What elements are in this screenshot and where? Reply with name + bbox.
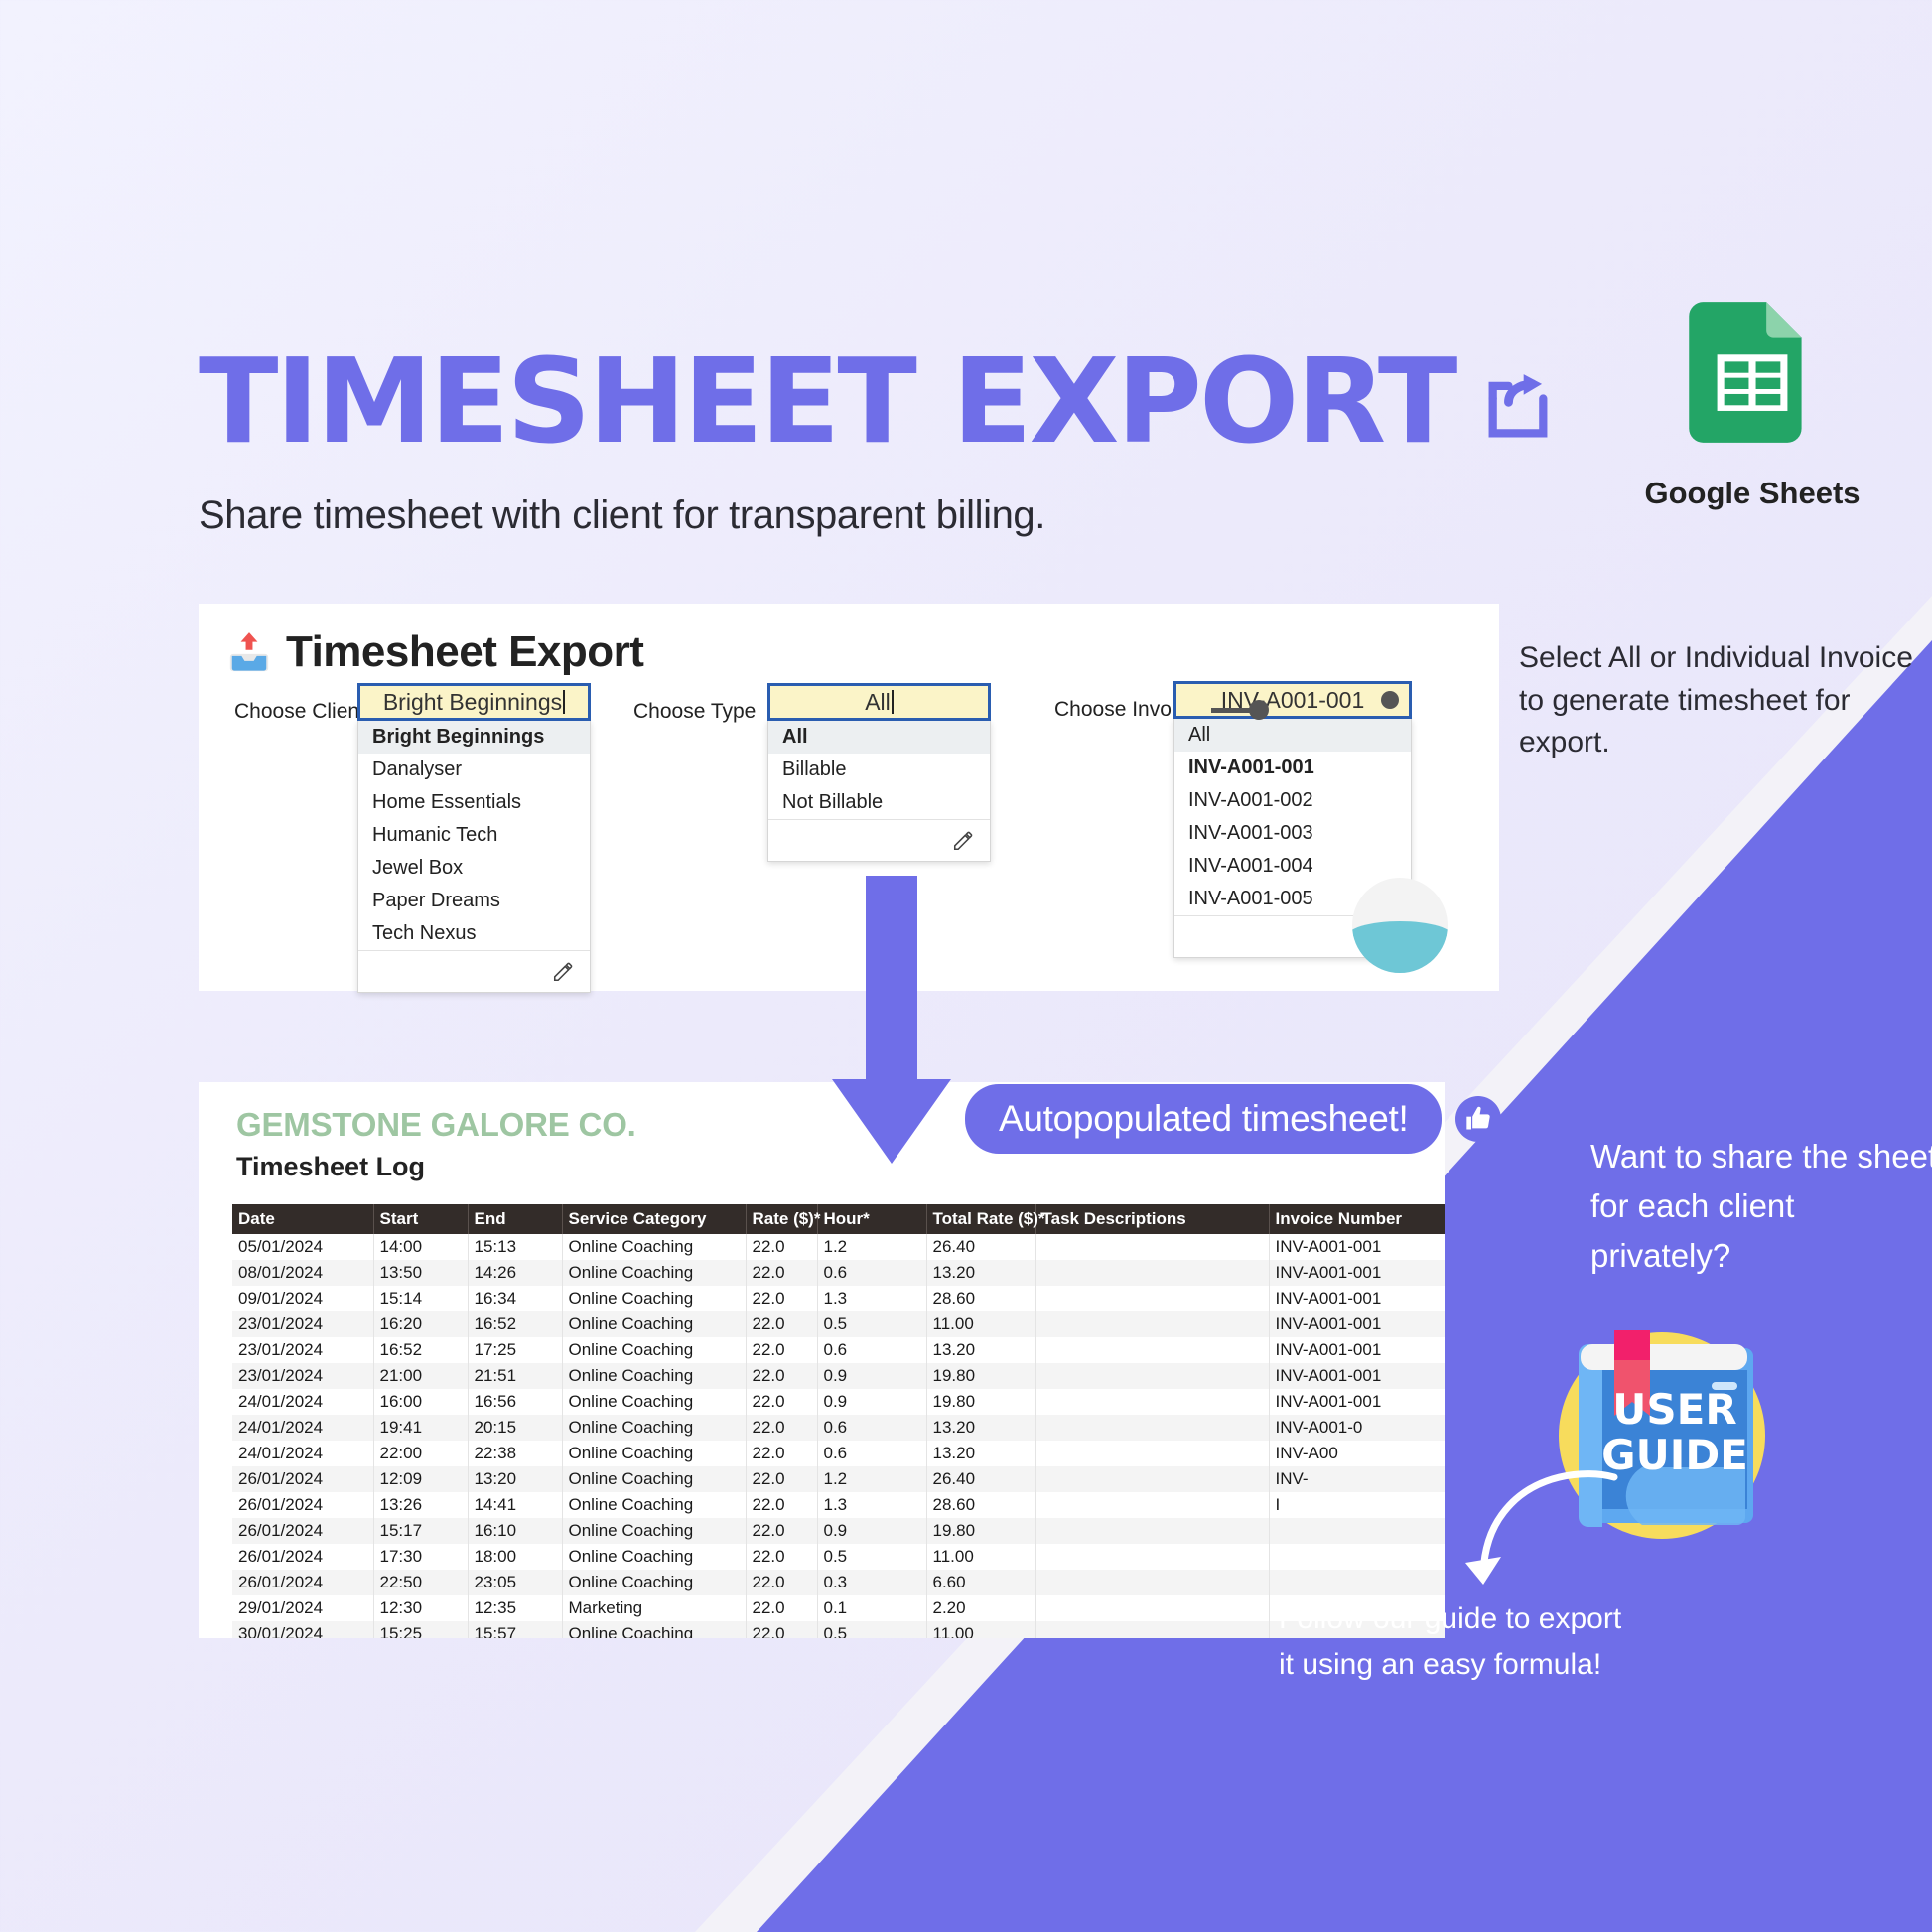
- table-cell: 22.0: [746, 1466, 817, 1492]
- table-cell: 19.80: [926, 1518, 1035, 1544]
- anchor-dot: [1381, 691, 1399, 709]
- timesheet-table: DateStartEndService CategoryRate ($)*Hou…: [232, 1204, 1445, 1638]
- table-cell: [1035, 1389, 1269, 1415]
- table-column-header: Start: [373, 1204, 468, 1234]
- table-cell: 19.80: [926, 1389, 1035, 1415]
- table-cell: 0.9: [817, 1363, 926, 1389]
- dropdown-option[interactable]: All: [768, 721, 990, 754]
- table-cell: 26/01/2024: [232, 1492, 373, 1518]
- choose-client-dropdown[interactable]: Bright Beginnings Bright Beginnings Dana…: [357, 683, 591, 993]
- dropdown-option[interactable]: Paper Dreams: [358, 885, 590, 917]
- table-cell: 21:51: [468, 1363, 562, 1389]
- table-cell: 23:05: [468, 1570, 562, 1595]
- share-privately-question: Want to share the sheet for each client …: [1590, 1132, 1932, 1281]
- table-cell: 22.0: [746, 1311, 817, 1337]
- table-cell: 26/01/2024: [232, 1570, 373, 1595]
- table-cell: 13:20: [468, 1466, 562, 1492]
- dropdown-option[interactable]: All: [1174, 719, 1411, 752]
- choose-type-option-list[interactable]: All Billable Not Billable: [767, 721, 991, 862]
- table-cell: 22.0: [746, 1492, 817, 1518]
- table-cell: [1035, 1415, 1269, 1441]
- table-cell: 0.6: [817, 1337, 926, 1363]
- table-row: 23/01/202416:5217:25Online Coaching22.00…: [232, 1337, 1445, 1363]
- table-cell: INV-A001-001: [1269, 1311, 1445, 1337]
- table-cell: 0.9: [817, 1518, 926, 1544]
- table-cell: 22:38: [468, 1441, 562, 1466]
- dropdown-option[interactable]: INV-A001-004: [1174, 850, 1411, 883]
- table-row: 08/01/202413:5014:26Online Coaching22.00…: [232, 1260, 1445, 1286]
- choose-type-input[interactable]: All: [767, 683, 991, 721]
- callout-select-invoice: Select All or Individual Invoice to gene…: [1519, 637, 1916, 764]
- table-cell: 26/01/2024: [232, 1544, 373, 1570]
- dropdown-option[interactable]: Tech Nexus: [358, 917, 590, 950]
- google-sheets-icon: [1668, 288, 1837, 457]
- table-cell: 13.20: [926, 1260, 1035, 1286]
- table-column-header: Invoice Number: [1269, 1204, 1445, 1234]
- dropdown-option[interactable]: Home Essentials: [358, 786, 590, 819]
- table-column-header: Date: [232, 1204, 373, 1234]
- table-row: 26/01/202412:0913:20Online Coaching22.01…: [232, 1466, 1445, 1492]
- pencil-icon[interactable]: [952, 830, 974, 852]
- table-cell: 26.40: [926, 1234, 1035, 1260]
- table-cell: Online Coaching: [562, 1260, 746, 1286]
- table-cell: 22.0: [746, 1621, 817, 1638]
- down-arrow-icon: [832, 876, 951, 1164]
- table-header-row: DateStartEndService CategoryRate ($)*Hou…: [232, 1204, 1445, 1234]
- text-caret: [892, 690, 894, 714]
- table-cell: 13.20: [926, 1441, 1035, 1466]
- table-cell: [1035, 1234, 1269, 1260]
- autopopulated-label: Autopopulated timesheet!: [965, 1084, 1442, 1154]
- table-cell: 0.6: [817, 1415, 926, 1441]
- outbox-tray-emoji: [226, 629, 272, 675]
- table-cell: 22.0: [746, 1441, 817, 1466]
- table-cell: 19:41: [373, 1415, 468, 1441]
- table-cell: 22.0: [746, 1363, 817, 1389]
- table-cell: INV-A001-001: [1269, 1286, 1445, 1311]
- table-row: 24/01/202422:0022:38Online Coaching22.00…: [232, 1441, 1445, 1466]
- table-cell: 0.9: [817, 1389, 926, 1415]
- table-cell: [1035, 1260, 1269, 1286]
- table-cell: 08/01/2024: [232, 1260, 373, 1286]
- table-cell: 16:52: [468, 1311, 562, 1337]
- table-cell: [1035, 1466, 1269, 1492]
- table-cell: 11.00: [926, 1621, 1035, 1638]
- timesheet-log-panel: GEMSTONE GALORE CO. Timesheet Log DateSt…: [199, 1082, 1445, 1638]
- table-cell: 15:14: [373, 1286, 468, 1311]
- table-cell: 29/01/2024: [232, 1595, 373, 1621]
- table-cell: 14:26: [468, 1260, 562, 1286]
- table-cell: 0.6: [817, 1441, 926, 1466]
- choose-client-value: Bright Beginnings: [383, 689, 562, 716]
- table-cell: INV-A00: [1269, 1441, 1445, 1466]
- table-row: 09/01/202415:1416:34Online Coaching22.01…: [232, 1286, 1445, 1311]
- table-cell: 13:50: [373, 1260, 468, 1286]
- autopopulated-badge: Autopopulated timesheet!: [965, 1084, 1501, 1154]
- dropdown-option[interactable]: Billable: [768, 754, 990, 786]
- table-row: 24/01/202416:0016:56Online Coaching22.00…: [232, 1389, 1445, 1415]
- table-cell: 24/01/2024: [232, 1389, 373, 1415]
- table-cell: 2.20: [926, 1595, 1035, 1621]
- table-cell: [1035, 1492, 1269, 1518]
- table-cell: Online Coaching: [562, 1337, 746, 1363]
- table-cell: 16:00: [373, 1389, 468, 1415]
- table-cell: [1035, 1286, 1269, 1311]
- table-column-header: End: [468, 1204, 562, 1234]
- dropdown-option[interactable]: Jewel Box: [358, 852, 590, 885]
- table-cell: [1269, 1518, 1445, 1544]
- table-cell: 22.0: [746, 1260, 817, 1286]
- table-cell: 16:52: [373, 1337, 468, 1363]
- dropdown-option[interactable]: Bright Beginnings: [358, 721, 590, 754]
- table-row: 05/01/202414:0015:13Online Coaching22.01…: [232, 1234, 1445, 1260]
- google-sheets-badge: Google Sheets: [1643, 288, 1862, 511]
- table-cell: Online Coaching: [562, 1570, 746, 1595]
- text-caret: [563, 690, 565, 714]
- table-cell: INV-A001-0: [1269, 1415, 1445, 1441]
- table-cell: 26/01/2024: [232, 1518, 373, 1544]
- table-cell: 26/01/2024: [232, 1466, 373, 1492]
- table-cell: Marketing: [562, 1595, 746, 1621]
- table-cell: 12:09: [373, 1466, 468, 1492]
- choose-client-input[interactable]: Bright Beginnings: [357, 683, 591, 721]
- table-cell: [1035, 1363, 1269, 1389]
- table-row: 24/01/202419:4120:15Online Coaching22.00…: [232, 1415, 1445, 1441]
- table-cell: 22:50: [373, 1570, 468, 1595]
- table-cell: [1035, 1595, 1269, 1621]
- table-cell: 26.40: [926, 1466, 1035, 1492]
- table-cell: 0.5: [817, 1621, 926, 1638]
- table-cell: 09/01/2024: [232, 1286, 373, 1311]
- table-cell: 17:25: [468, 1337, 562, 1363]
- choose-client-label: Choose Client: [234, 700, 365, 724]
- table-cell: 13:26: [373, 1492, 468, 1518]
- table-row: 26/01/202415:1716:10Online Coaching22.00…: [232, 1518, 1445, 1544]
- table-cell: [1035, 1544, 1269, 1570]
- share-export-icon: [1480, 370, 1556, 446]
- table-cell: 23/01/2024: [232, 1337, 373, 1363]
- table-cell: 11.00: [926, 1311, 1035, 1337]
- table-cell: 13.20: [926, 1337, 1035, 1363]
- table-cell: 16:56: [468, 1389, 562, 1415]
- dropdown-footer: [358, 950, 590, 992]
- table-cell: 23/01/2024: [232, 1363, 373, 1389]
- water-fill: [1352, 935, 1448, 973]
- table-cell: Online Coaching: [562, 1466, 746, 1492]
- table-cell: [1035, 1311, 1269, 1337]
- table-cell: 21:00: [373, 1363, 468, 1389]
- page-title: TIMESHEET EXPORT: [199, 343, 1454, 460]
- table-cell: 28.60: [926, 1286, 1035, 1311]
- dropdown-option[interactable]: Not Billable: [768, 786, 990, 819]
- header: TIMESHEET EXPORT Share timesheet with cl…: [199, 343, 1556, 538]
- table-column-header: Service Category: [562, 1204, 746, 1234]
- table-column-header: Rate ($)*: [746, 1204, 817, 1234]
- table-cell: [1035, 1621, 1269, 1638]
- table-cell: 0.5: [817, 1311, 926, 1337]
- table-cell: 22.0: [746, 1415, 817, 1441]
- table-cell: INV-A001-001: [1269, 1234, 1445, 1260]
- table-cell: 0.3: [817, 1570, 926, 1595]
- table-cell: 18:00: [468, 1544, 562, 1570]
- table-cell: 12:30: [373, 1595, 468, 1621]
- table-row: 30/01/202415:2515:57Online Coaching22.00…: [232, 1621, 1445, 1638]
- table-cell: 0.1: [817, 1595, 926, 1621]
- table-column-header: Task Descriptions: [1035, 1204, 1269, 1234]
- water-progress-circle: [1352, 878, 1448, 973]
- table-cell: 24/01/2024: [232, 1441, 373, 1466]
- table-cell: 0.5: [817, 1544, 926, 1570]
- google-sheets-label: Google Sheets: [1643, 476, 1862, 511]
- table-cell: 6.60: [926, 1570, 1035, 1595]
- table-cell: 23/01/2024: [232, 1311, 373, 1337]
- table-cell: 17:30: [373, 1544, 468, 1570]
- table-cell: 22:00: [373, 1441, 468, 1466]
- choose-type-dropdown[interactable]: All All Billable Not Billable: [767, 683, 991, 862]
- table-cell: 1.2: [817, 1234, 926, 1260]
- table-body: 05/01/202414:0015:13Online Coaching22.01…: [232, 1234, 1445, 1638]
- callout-connector-dot: [1249, 700, 1269, 720]
- table-cell: 15:17: [373, 1518, 468, 1544]
- table-cell: 1.3: [817, 1492, 926, 1518]
- table-cell: 16:20: [373, 1311, 468, 1337]
- table-cell: 22.0: [746, 1570, 817, 1595]
- table-row: 26/01/202417:3018:00Online Coaching22.00…: [232, 1544, 1445, 1570]
- curved-arrow-icon: [1438, 1467, 1626, 1616]
- table-cell: 30/01/2024: [232, 1621, 373, 1638]
- table-cell: Online Coaching: [562, 1492, 746, 1518]
- panel-title: Timesheet Export: [286, 627, 643, 677]
- table-cell: 0.6: [817, 1260, 926, 1286]
- choose-client-option-list[interactable]: Bright Beginnings Danalyser Home Essenti…: [357, 721, 591, 993]
- table-row: 29/01/202412:3012:35Marketing22.00.12.20: [232, 1595, 1445, 1621]
- table-cell: Online Coaching: [562, 1621, 746, 1638]
- user-guide-line1: USER: [1612, 1385, 1736, 1434]
- table-cell: 15:57: [468, 1621, 562, 1638]
- table-cell: Online Coaching: [562, 1441, 746, 1466]
- table-cell: INV-A001-001: [1269, 1337, 1445, 1363]
- table-cell: 1.2: [817, 1466, 926, 1492]
- table-cell: [1035, 1441, 1269, 1466]
- table-cell: Online Coaching: [562, 1311, 746, 1337]
- table-column-header: Total Rate ($)*: [926, 1204, 1035, 1234]
- table-cell: Online Coaching: [562, 1518, 746, 1544]
- choose-type-label: Choose Type: [633, 700, 756, 724]
- choose-type-value: All: [865, 689, 891, 716]
- dropdown-option[interactable]: INV-A001-002: [1174, 784, 1411, 817]
- table-cell: Online Coaching: [562, 1389, 746, 1415]
- table-cell: INV-A001-001: [1269, 1363, 1445, 1389]
- table-cell: 16:10: [468, 1518, 562, 1544]
- table-cell: 22.0: [746, 1337, 817, 1363]
- table-cell: 12:35: [468, 1595, 562, 1621]
- table-cell: 22.0: [746, 1234, 817, 1260]
- pencil-icon[interactable]: [552, 961, 574, 983]
- table-cell: INV-A001-001: [1269, 1260, 1445, 1286]
- table-cell: 15:13: [468, 1234, 562, 1260]
- table-column-header: Hour*: [817, 1204, 926, 1234]
- table-cell: 22.0: [746, 1544, 817, 1570]
- table-row: 26/01/202413:2614:41Online Coaching22.01…: [232, 1492, 1445, 1518]
- table-cell: 22.0: [746, 1286, 817, 1311]
- table-cell: [1269, 1570, 1445, 1595]
- table-cell: 1.3: [817, 1286, 926, 1311]
- table-cell: 05/01/2024: [232, 1234, 373, 1260]
- table-cell: 19.80: [926, 1363, 1035, 1389]
- table-cell: [1269, 1544, 1445, 1570]
- dropdown-footer: [768, 819, 990, 861]
- table-cell: 14:41: [468, 1492, 562, 1518]
- table-cell: 16:34: [468, 1286, 562, 1311]
- table-cell: 22.0: [746, 1518, 817, 1544]
- page-subtitle: Share timesheet with client for transpar…: [199, 493, 1556, 538]
- dropdown-option[interactable]: Humanic Tech: [358, 819, 590, 852]
- table-cell: [1035, 1570, 1269, 1595]
- table-cell: I: [1269, 1492, 1445, 1518]
- table-cell: Online Coaching: [562, 1544, 746, 1570]
- table-cell: Online Coaching: [562, 1415, 746, 1441]
- choose-invoice-input[interactable]: INV-A001-001: [1173, 681, 1412, 719]
- dropdown-option[interactable]: INV-A001-003: [1174, 817, 1411, 850]
- table-row: 23/01/202421:0021:51Online Coaching22.00…: [232, 1363, 1445, 1389]
- table-cell: 22.0: [746, 1389, 817, 1415]
- table-cell: 20:15: [468, 1415, 562, 1441]
- table-cell: Online Coaching: [562, 1286, 746, 1311]
- table-row: 26/01/202422:5023:05Online Coaching22.00…: [232, 1570, 1445, 1595]
- water-wave: [1352, 921, 1448, 937]
- table-cell: Online Coaching: [562, 1363, 746, 1389]
- panel-title-row: Timesheet Export: [199, 604, 1499, 677]
- thumbs-up-icon: [1455, 1096, 1501, 1142]
- table-cell: Online Coaching: [562, 1234, 746, 1260]
- table-cell: 22.0: [746, 1595, 817, 1621]
- dropdown-option[interactable]: Danalyser: [358, 754, 590, 786]
- table-cell: INV-: [1269, 1466, 1445, 1492]
- table-cell: 11.00: [926, 1544, 1035, 1570]
- table-cell: [1035, 1337, 1269, 1363]
- table-cell: 15:25: [373, 1621, 468, 1638]
- dropdown-option[interactable]: INV-A001-001: [1174, 752, 1411, 784]
- table-cell: 13.20: [926, 1415, 1035, 1441]
- table-row: 23/01/202416:2016:52Online Coaching22.00…: [232, 1311, 1445, 1337]
- table-cell: 14:00: [373, 1234, 468, 1260]
- table-cell: [1035, 1518, 1269, 1544]
- table-cell: 28.60: [926, 1492, 1035, 1518]
- title-row: TIMESHEET EXPORT: [199, 343, 1556, 460]
- table-cell: 24/01/2024: [232, 1415, 373, 1441]
- table-cell: INV-A001-001: [1269, 1389, 1445, 1415]
